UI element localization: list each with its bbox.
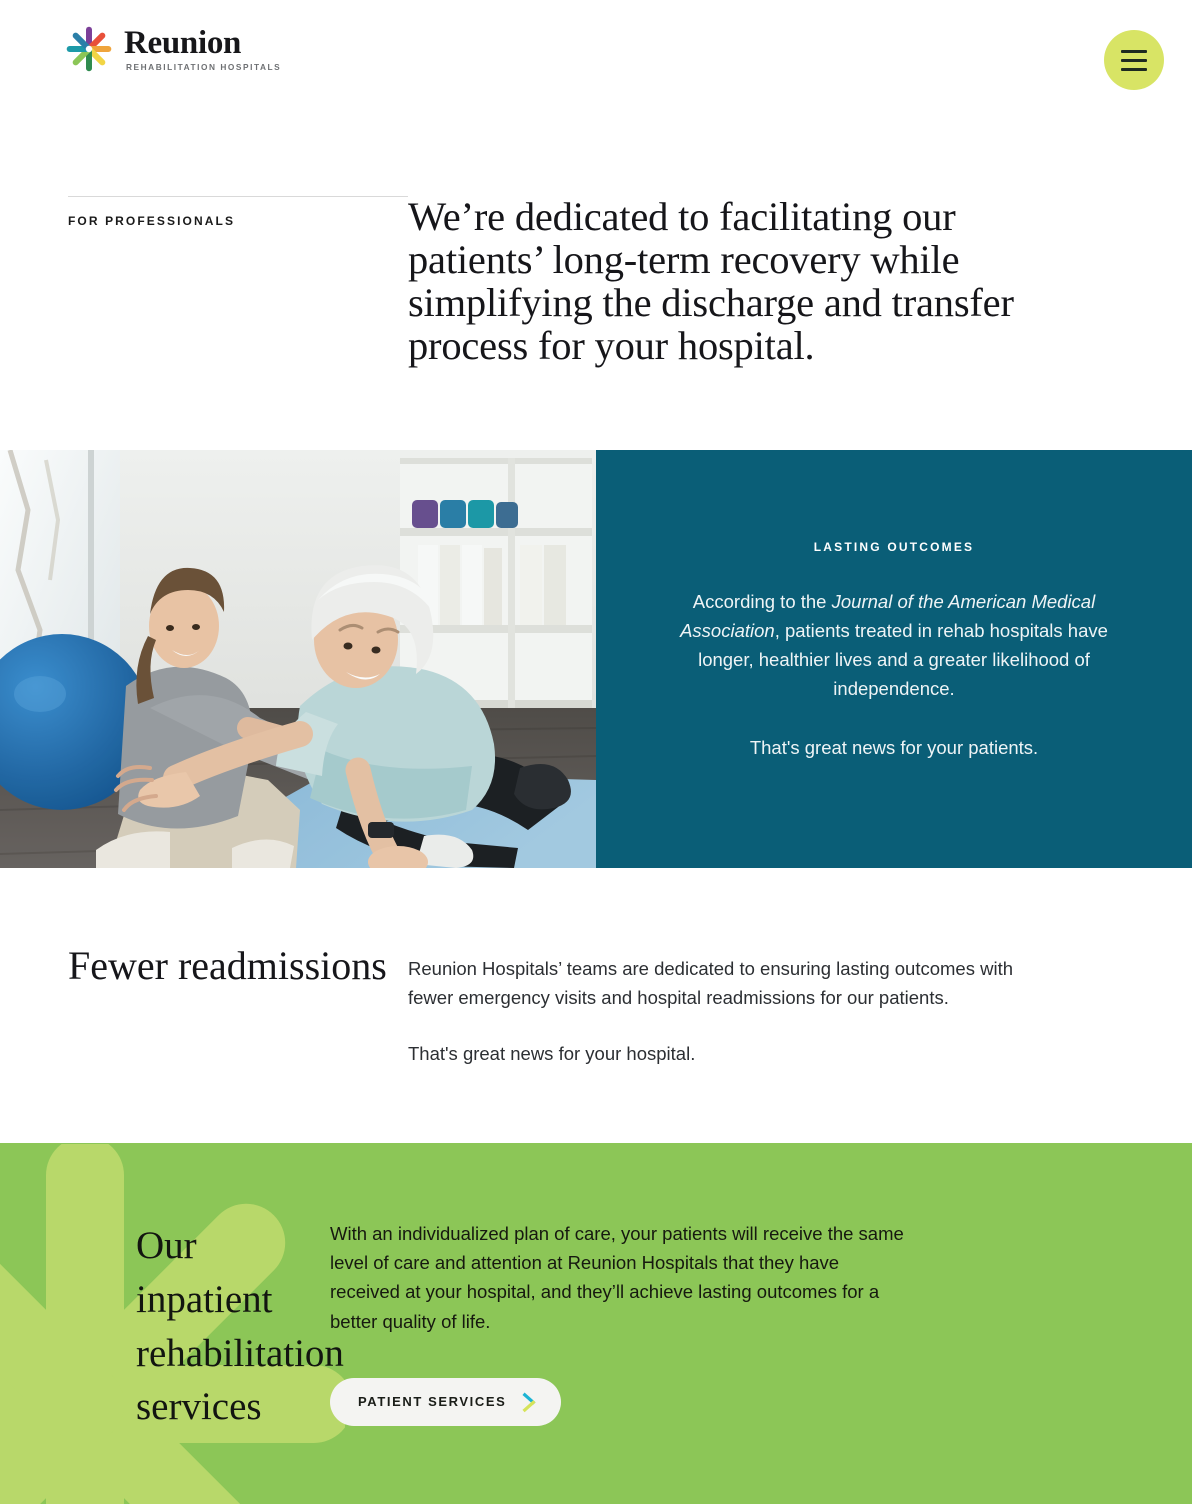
therapy-photo xyxy=(0,450,596,868)
menu-line-2 xyxy=(1121,59,1147,62)
menu-line-1 xyxy=(1121,50,1147,53)
page-root: Reunion REHABILITATION HOSPITALS FOR PRO… xyxy=(0,0,1192,1504)
lasting-outcomes-kicker: That's great news for your patients. xyxy=(656,733,1132,762)
stat-lead-text: According to the xyxy=(693,591,832,612)
readmissions-title-column: Fewer readmissions xyxy=(0,940,408,1068)
page-title: We’re dedicated to facilitating our pati… xyxy=(408,196,1048,368)
intro-eyebrow-column: FOR PROFESSIONALS xyxy=(0,196,408,368)
services-section: Our inpatient rehabilitation services Wi… xyxy=(0,1143,1192,1504)
brand-tagline: REHABILITATION HOSPITALS xyxy=(124,63,281,71)
intro-eyebrow: FOR PROFESSIONALS xyxy=(68,214,408,228)
readmissions-paragraph-2: That's great news for your hospital. xyxy=(408,1039,1038,1068)
menu-line-3 xyxy=(1121,68,1147,71)
brand-wordmark: Reunion REHABILITATION HOSPITALS xyxy=(124,27,281,71)
brand-logo-link[interactable]: Reunion REHABILITATION HOSPITALS xyxy=(66,26,281,72)
services-title: Our inpatient rehabilitation services xyxy=(136,1219,330,1434)
lasting-outcomes-eyebrow: LASTING OUTCOMES xyxy=(656,540,1132,554)
intro-headline-column: We’re dedicated to facilitating our pati… xyxy=(408,196,1108,368)
split-band-section: LASTING OUTCOMES According to the Journa… xyxy=(0,450,1192,868)
brand-name: Reunion xyxy=(124,27,281,60)
divider-rule xyxy=(68,196,408,197)
chevron-right-icon xyxy=(520,1391,539,1413)
intro-section: FOR PROFESSIONALS We’re dedicated to fac… xyxy=(0,196,1192,368)
lasting-outcomes-body: According to the Journal of the American… xyxy=(656,587,1132,703)
services-title-column: Our inpatient rehabilitation services xyxy=(0,1219,330,1434)
services-paragraph: With an individualized plan of care, you… xyxy=(330,1219,910,1336)
readmissions-section: Fewer readmissions Reunion Hospitals’ te… xyxy=(0,940,1192,1068)
patient-services-button[interactable]: PATIENT SERVICES xyxy=(330,1378,561,1426)
hamburger-menu-icon[interactable] xyxy=(1104,30,1164,90)
patient-services-label: PATIENT SERVICES xyxy=(358,1394,506,1409)
reunion-pinwheel-logo-icon xyxy=(66,26,112,72)
services-copy-column: With an individualized plan of care, you… xyxy=(330,1219,970,1434)
readmissions-title: Fewer readmissions xyxy=(68,940,408,993)
site-header: Reunion REHABILITATION HOSPITALS xyxy=(0,0,1192,110)
readmissions-paragraph-1: Reunion Hospitals’ teams are dedicated t… xyxy=(408,954,1038,1012)
readmissions-copy-column: Reunion Hospitals’ teams are dedicated t… xyxy=(408,940,1108,1068)
lasting-outcomes-panel: LASTING OUTCOMES According to the Journa… xyxy=(596,450,1192,868)
services-content: Our inpatient rehabilitation services Wi… xyxy=(0,1143,1192,1434)
